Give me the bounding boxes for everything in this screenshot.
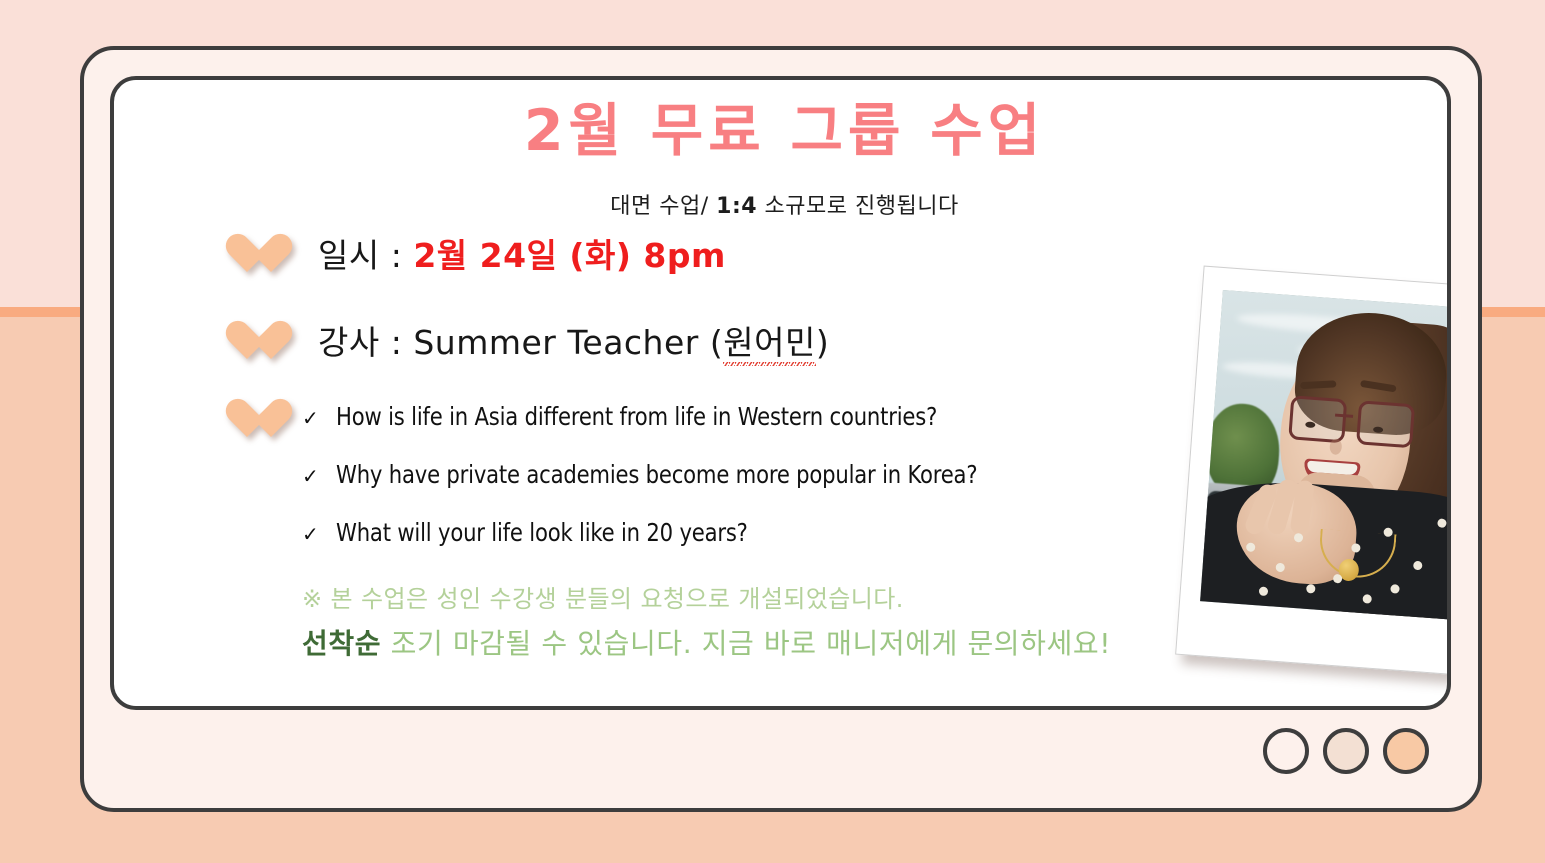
check-icon: ✓	[302, 522, 336, 546]
circle-indicator-1[interactable]	[1263, 728, 1309, 774]
detail-date-text: 일시 : 2월 24일 (화) 8pm	[318, 239, 726, 272]
poster-card: 2월 무료 그룹 수업 대면 수업/ 1:4 소규모로 진행됩니다 일시 : 2…	[110, 76, 1451, 710]
circle-indicator-3[interactable]	[1383, 728, 1429, 774]
check-icon: ✓	[302, 464, 336, 488]
note-text: ※ 본 수업은 성인 수강생 분들의 요청으로 개설되었습니다.	[302, 579, 904, 614]
questions-row	[224, 400, 270, 442]
page-title: 2월 무료 그룹 수업	[114, 102, 1451, 162]
cta-emphasis: 선착순	[302, 627, 381, 660]
detail-teacher-value-tail: )	[816, 323, 829, 362]
subtitle-prefix: 대면 수업/	[610, 194, 716, 219]
detail-teacher-label: 강사 :	[318, 323, 413, 362]
heart-icon	[224, 400, 270, 442]
subtitle-suffix: 소규모로 진행됩니다	[757, 194, 959, 219]
cta-text: 선착순 조기 마감될 수 있습니다. 지금 바로 매니저에게 문의하세요!	[302, 622, 1111, 662]
check-icon: ✓	[302, 406, 336, 430]
list-item: ✓ What will your life look like in 20 ye…	[302, 518, 774, 547]
question-text: How is life in Asia different from life …	[336, 402, 937, 431]
cta-rest: 조기 마감될 수 있습니다. 지금 바로 매니저에게 문의하세요!	[381, 627, 1111, 660]
teacher-photo	[1200, 290, 1451, 620]
heart-icon	[224, 235, 270, 277]
heart-icon	[224, 322, 270, 364]
detail-date-value: 2월 24일 (화) 8pm	[413, 236, 726, 275]
detail-teacher-value: Summer Teacher (	[413, 323, 723, 362]
detail-date-label: 일시 :	[318, 236, 413, 275]
list-item: ✓ How is life in Asia different from lif…	[302, 402, 975, 431]
detail-teacher-text: 강사 : Summer Teacher (원어민)	[318, 326, 829, 359]
question-text: What will your life look like in 20 year…	[336, 518, 748, 547]
list-item: ✓ Why have private academies become more…	[302, 460, 1018, 489]
detail-row-teacher: 강사 : Summer Teacher (원어민)	[224, 322, 829, 364]
subtitle-ratio: 1:4	[716, 194, 757, 219]
question-text: Why have private academies become more p…	[336, 460, 977, 489]
detail-row-date: 일시 : 2월 24일 (화) 8pm	[224, 235, 726, 277]
spellcheck-underlined-text: 원어민	[723, 323, 816, 366]
page-subtitle: 대면 수업/ 1:4 소규모로 진행됩니다	[114, 188, 1451, 220]
circle-indicator-2[interactable]	[1323, 728, 1369, 774]
teacher-photo-polaroid	[1175, 266, 1451, 677]
